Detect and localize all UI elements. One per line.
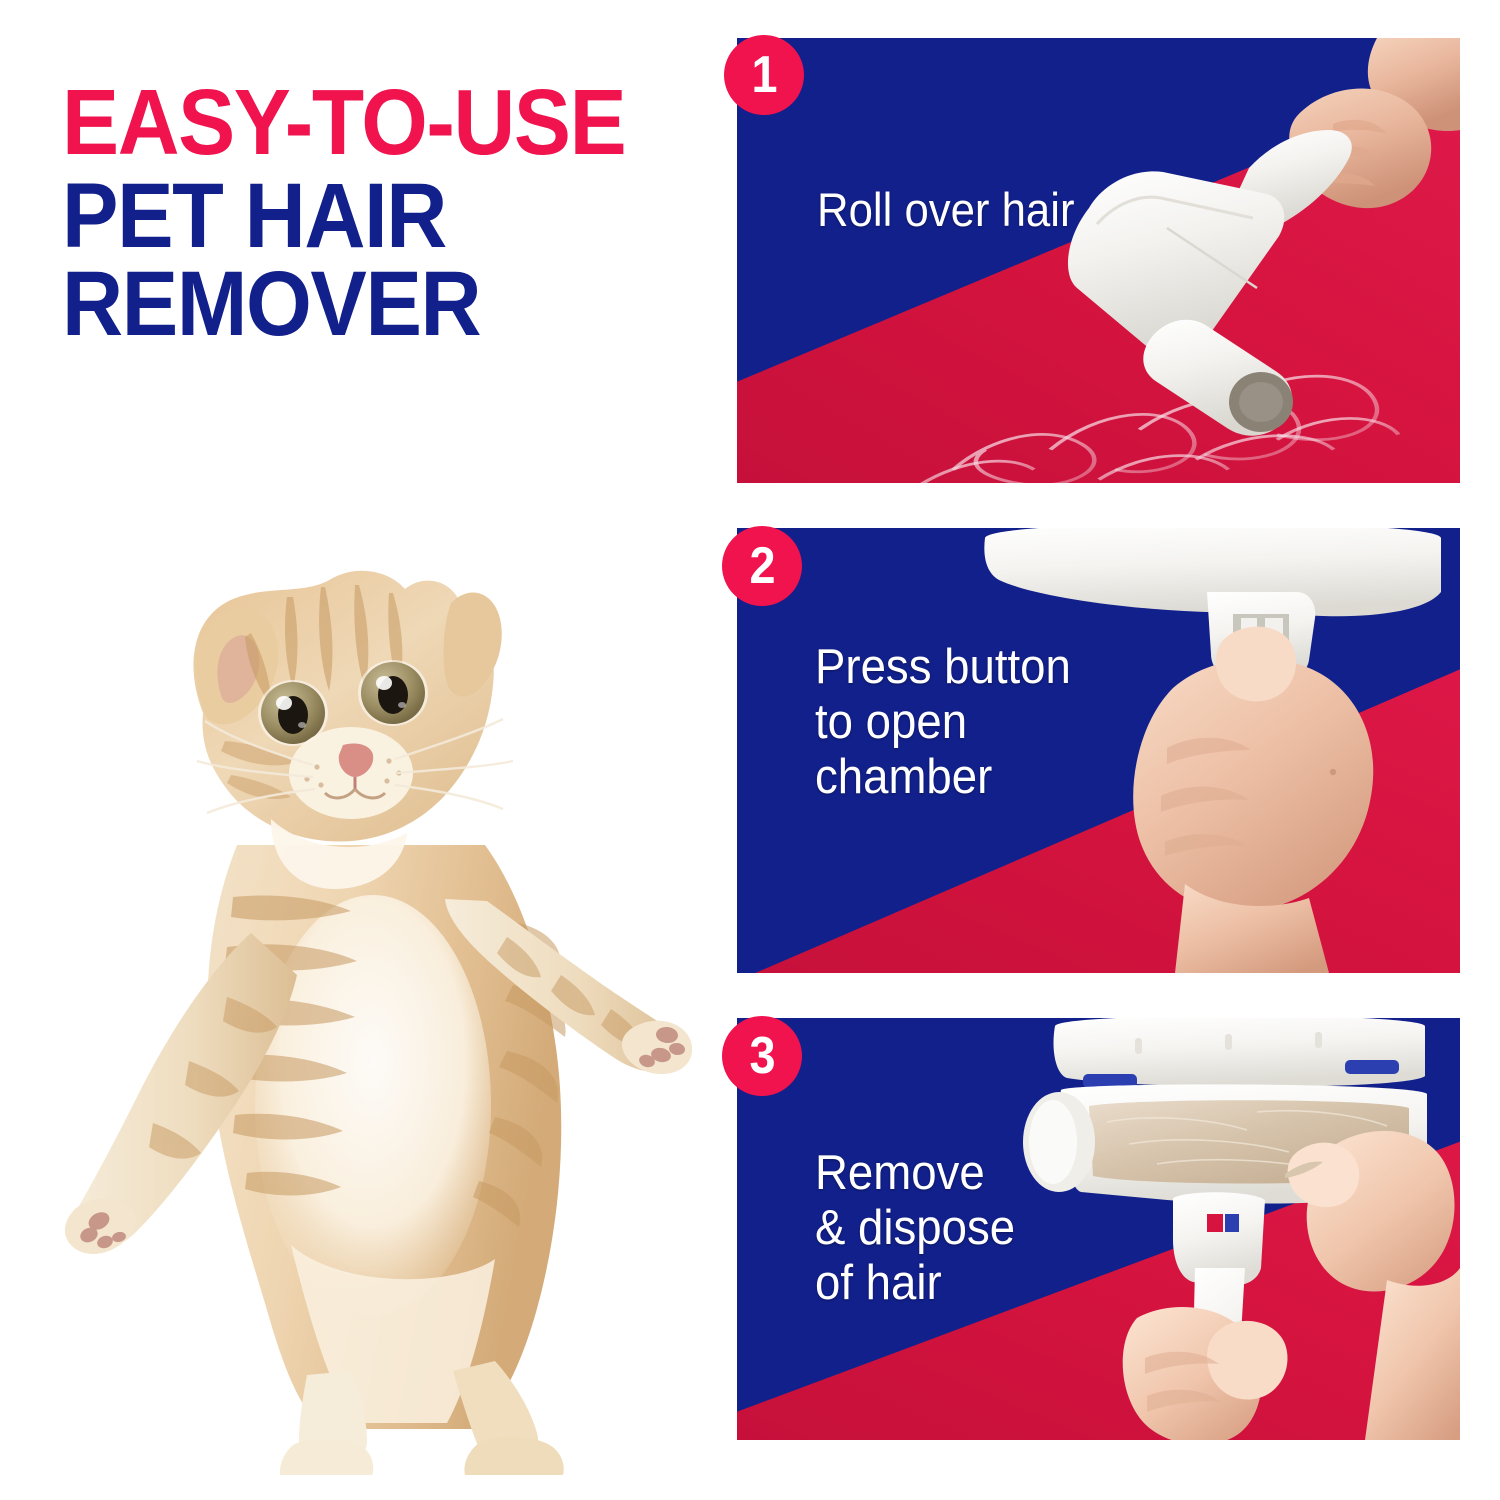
headline-line-3: REMOVER [62, 261, 651, 348]
kitten-illustration [55, 545, 695, 1475]
step-1-product-and-hand [737, 38, 1460, 483]
infographic-page: EASY-TO-USE PET HAIR REMOVER [0, 0, 1500, 1500]
step-card-1[interactable]: Roll over hair 1 [737, 38, 1460, 483]
step-1-photo [737, 38, 1460, 483]
headline-line-1: EASY-TO-USE [62, 78, 651, 166]
step-2-caption: Press button to open chamber [815, 640, 1071, 805]
step-3-caption: Remove & dispose of hair [815, 1146, 1015, 1311]
step-3-badge: 3 [722, 1016, 802, 1096]
step-card-3[interactable]: Remove & dispose of hair 3 [737, 1018, 1460, 1440]
step-2-badge: 2 [722, 526, 802, 606]
step-1-caption: Roll over hair [817, 184, 1075, 237]
step-card-2[interactable]: Press button to open chamber 2 [737, 528, 1460, 973]
headline-line-2: PET HAIR [62, 173, 651, 260]
step-2-number: 2 [749, 540, 775, 592]
kitten-head [193, 571, 513, 889]
left-column: EASY-TO-USE PET HAIR REMOVER [0, 0, 720, 1500]
step-1-badge: 1 [724, 35, 804, 115]
steps-column: Roll over hair 1 [722, 0, 1500, 1500]
step-1-number: 1 [751, 49, 777, 101]
kitten-hero-image [55, 545, 695, 1475]
step-3-number: 3 [749, 1030, 775, 1082]
page-title: EASY-TO-USE PET HAIR REMOVER [62, 78, 702, 348]
